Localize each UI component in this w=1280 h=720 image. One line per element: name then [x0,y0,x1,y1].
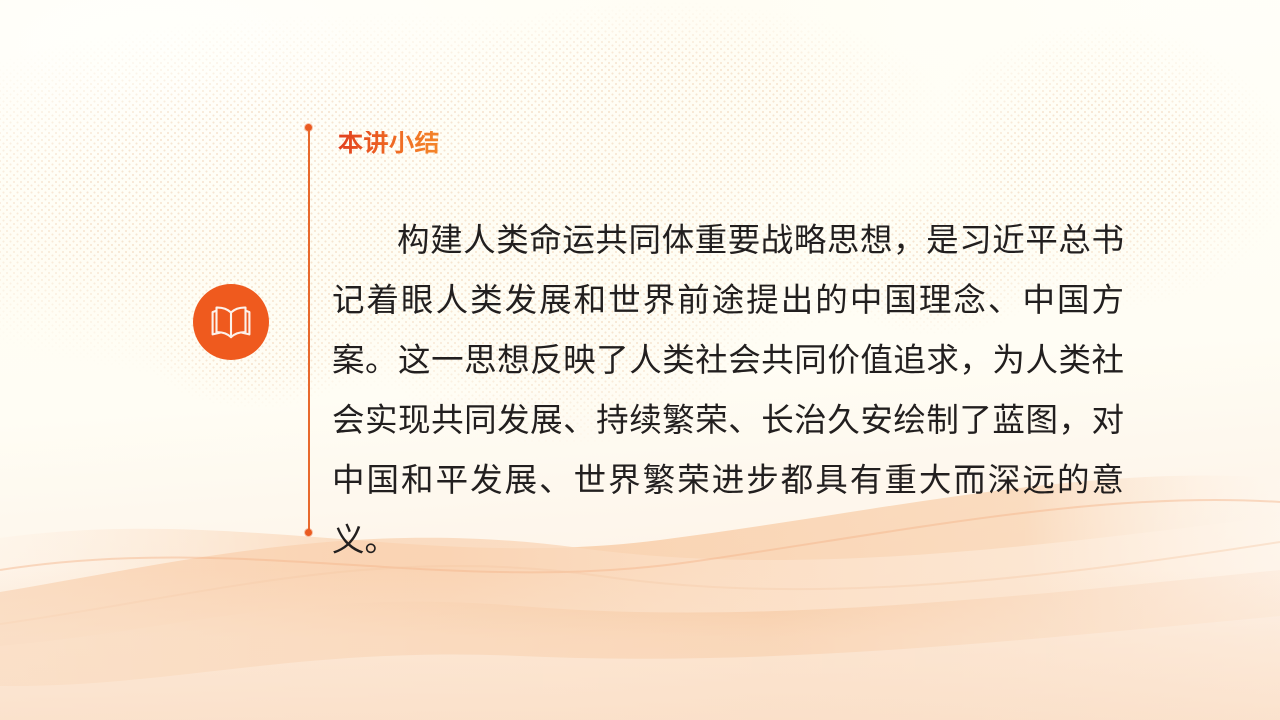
timeline-rail-line [308,130,310,530]
bottom-haze-overlay [0,570,1280,720]
open-book-icon [209,304,253,340]
timeline-rail [305,124,312,536]
timeline-dot-bottom [305,529,312,536]
open-book-badge [193,284,269,360]
page-title: 本讲小结 [338,131,440,156]
summary-paragraph: 构建人类命运共同体重要战略思想，是习近平总书记着眼人类发展和世界前途提出的中国理… [332,210,1124,570]
slide-canvas: 本讲小结 构建人类命运共同体重要战略思想，是习近平总书记着眼人类发展和世界前途提… [0,0,1280,720]
